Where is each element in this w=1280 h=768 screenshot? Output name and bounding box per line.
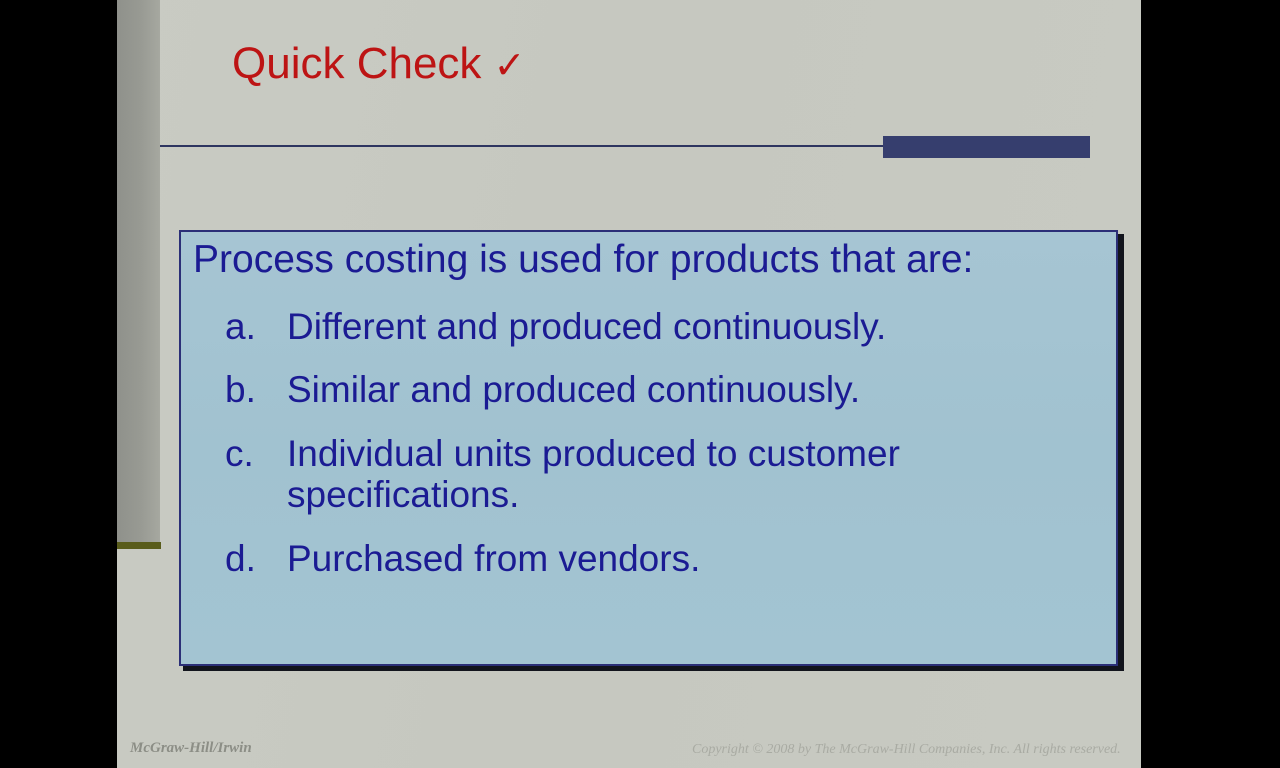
left-decorative-band [117,0,160,546]
answer-option-a-marker: a. [225,306,287,347]
answer-option-b-marker: b. [225,369,287,410]
answer-option-d[interactable]: d. Purchased from vendors. [225,538,1105,579]
answer-option-d-label: Purchased from vendors. [287,538,1067,579]
slide-canvas: Quick Check ✓ Process costing is used fo… [117,0,1141,768]
page-title-text: Quick Check [232,39,481,88]
answer-option-c[interactable]: c. Individual units produced to customer… [225,433,1105,516]
page-title: Quick Check ✓ [232,42,526,86]
answer-options-list: a. Different and produced continuously. … [225,306,1105,601]
footer-copyright: Copyright © 2008 by The McGraw-Hill Comp… [692,742,1121,758]
answer-option-a-label: Different and produced continuously. [287,306,1067,347]
question-stem: Process costing is used for products tha… [193,240,973,281]
answer-option-a[interactable]: a. Different and produced continuously. [225,306,1105,347]
footer-brand: McGraw-Hill/Irwin [130,740,252,757]
answer-option-b[interactable]: b. Similar and produced continuously. [225,369,1105,410]
question-box: Process costing is used for products tha… [179,230,1118,666]
left-band-accent-rule [117,542,161,549]
answer-option-b-label: Similar and produced continuously. [287,369,1067,410]
answer-option-c-label: Individual units produced to customer sp… [287,433,997,516]
answer-option-c-marker: c. [225,433,287,474]
answer-option-d-marker: d. [225,538,287,579]
header-accent-block [883,136,1090,158]
presentation-viewport: Quick Check ✓ Process costing is used fo… [0,0,1280,768]
check-mark-icon: ✓ [494,45,526,87]
